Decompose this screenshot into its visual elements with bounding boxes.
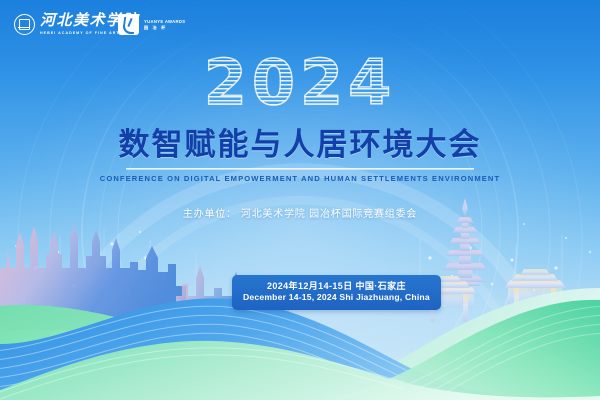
- hill-blue-main: [0, 298, 600, 400]
- organizer-names: 河北美术学院 园冶杯国际竞赛组委会: [241, 209, 417, 220]
- chinese-paifang-gate-silhouette: [420, 269, 566, 322]
- title-divider-rule: [126, 168, 474, 170]
- hill-green-right: [300, 300, 600, 400]
- organizer-label: 主办单位：: [183, 209, 237, 220]
- organizer-line: 主办单位：河北美术学院 园冶杯国际竞赛组委会: [0, 205, 600, 220]
- hill-back-left: [0, 305, 380, 400]
- yuanye-logo-text: YUANYE AWARDS 园 冶 杯: [144, 19, 185, 31]
- yuanye-name-en: YUANYE AWARDS: [144, 19, 185, 24]
- yuanye-mark-icon: [118, 14, 139, 35]
- title-block: 数智赋能与人居环境大会 CONFERENCE ON DIGITAL EMPOWE…: [0, 128, 600, 183]
- hill-green-contour-lines: [320, 306, 600, 400]
- yuanye-name-cn: 园 冶 杯: [144, 25, 185, 30]
- foreground-flow-lines: [0, 348, 404, 399]
- date-location-badge: 2024年12月14-15日 中国·石家庄 December 14-15, 20…: [232, 275, 441, 310]
- date-location-cn: 2024年12月14-15日 中国·石家庄: [243, 280, 430, 292]
- conference-title-cn: 数智赋能与人居环境大会: [0, 128, 600, 162]
- hill-blue-contour-lines: [0, 297, 456, 400]
- academy-seal-icon: [14, 14, 35, 35]
- conference-title-en: CONFERENCE ON DIGITAL EMPOWERMENT AND HU…: [0, 174, 600, 183]
- year-heading: 2024: [0, 52, 600, 114]
- header-logo-bar: 河北美术学院 HEBEI ACADEMY OF FINE ARTS YUANYE…: [0, 0, 600, 46]
- hill-front: [0, 341, 600, 400]
- conference-banner: 河北美术学院 HEBEI ACADEMY OF FINE ARTS YUANYE…: [0, 0, 600, 400]
- light-particle-dots-right: [428, 223, 591, 319]
- european-castle-silhouette: [0, 224, 256, 330]
- date-location-en: December 14-15, 2024 Shi Jiazhuang, Chin…: [243, 292, 430, 304]
- logo-yuanye-awards[interactable]: YUANYE AWARDS 园 冶 杯: [118, 14, 185, 35]
- light-particle-dots-left: [15, 231, 182, 332]
